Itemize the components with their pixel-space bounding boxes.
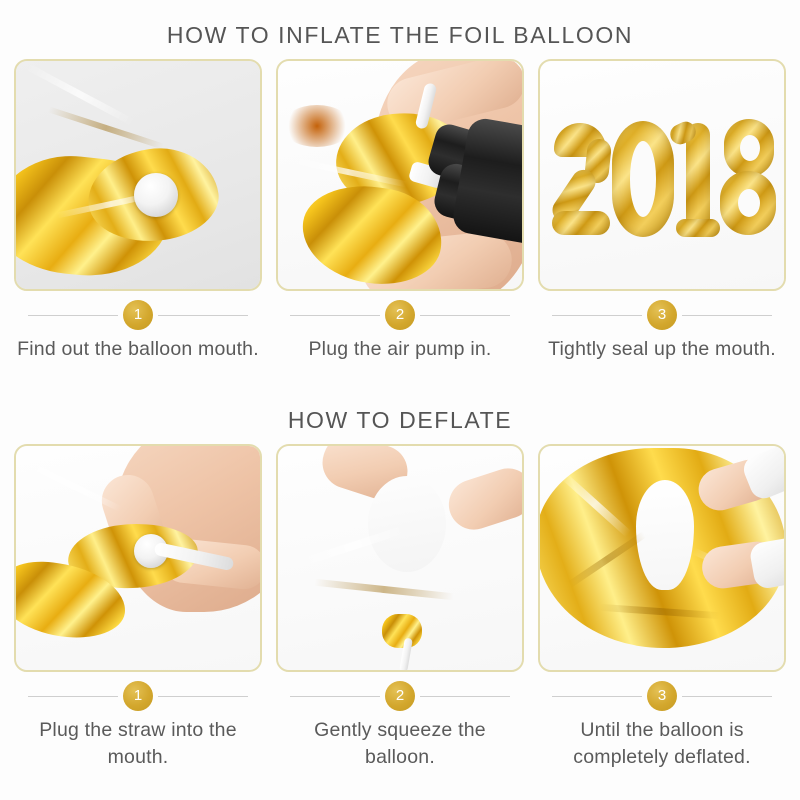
step-card-deflate-1: 1 Plug the straw into the mouth.: [14, 444, 262, 771]
section-inflate: HOW TO INFLATE THE FOIL BALLOON: [0, 0, 800, 363]
step-card-inflate-1: 1 Find out the balloon mouth.: [14, 59, 262, 363]
step-card-deflate-3: 3 Until the balloon is completely deflat…: [538, 444, 786, 771]
balloon-digit-8-hole-bottom: [738, 189, 760, 217]
step-card-deflate-2: 2 Gently squeeze the balloon.: [276, 444, 524, 771]
step-caption-2: Gently squeeze the balloon.: [276, 711, 524, 771]
balloon-digit-8-hole-top: [740, 135, 760, 161]
step-badge-2: 2: [385, 681, 415, 711]
divider-line-left: [552, 696, 642, 697]
section-title-inflate: HOW TO INFLATE THE FOIL BALLOON: [0, 0, 800, 49]
infographic-page: HOW TO INFLATE THE FOIL BALLOON: [0, 0, 800, 800]
step-badge-1: 1: [123, 300, 153, 330]
step-divider: 1: [14, 300, 262, 330]
steps-row-deflate: 1 Plug the straw into the mouth.: [0, 444, 800, 771]
photo-squeeze-balloon: [276, 444, 524, 672]
balloon-valve-icon: [134, 173, 178, 217]
step-badge-2: 2: [385, 300, 415, 330]
step-caption-1: Find out the balloon mouth.: [14, 330, 262, 363]
step-divider: 3: [538, 681, 786, 711]
section-deflate: HOW TO DEFLATE: [0, 393, 800, 771]
step-divider: 2: [276, 300, 524, 330]
divider-line-right: [682, 696, 772, 697]
step-badge-3: 3: [647, 300, 677, 330]
divider-line-left: [28, 696, 118, 697]
step-divider: 2: [276, 681, 524, 711]
step-divider: 1: [14, 681, 262, 711]
divider-line-right: [158, 315, 248, 316]
step-card-inflate-2: 2 Plug the air pump in.: [276, 59, 524, 363]
divider-line-right: [158, 696, 248, 697]
step-caption-3: Until the balloon is completely deflated…: [538, 711, 786, 771]
steps-row-inflate: 1 Find out the balloon mouth.: [0, 59, 800, 363]
photo-inflated-2018-balloons: [538, 59, 786, 291]
balloon-digit-2-base: [552, 211, 610, 235]
divider-line-right: [682, 315, 772, 316]
balloon-digit-0-hole: [630, 141, 656, 217]
section-title-deflate: HOW TO DEFLATE: [0, 393, 800, 434]
step-divider: 3: [538, 300, 786, 330]
divider-line-left: [28, 315, 118, 316]
step-card-inflate-3: 3 Tightly seal up the mouth.: [538, 59, 786, 363]
step-badge-1: 1: [123, 681, 153, 711]
balloon-digit-1-base: [676, 219, 720, 237]
step-caption-2: Plug the air pump in.: [276, 330, 524, 363]
divider-line-right: [420, 315, 510, 316]
step-caption-1: Plug the straw into the mouth.: [14, 711, 262, 771]
photo-balloon-mouth-valve: [14, 59, 262, 291]
divider-line-left: [552, 315, 642, 316]
divider-line-right: [420, 696, 510, 697]
photo-straw-into-mouth: [14, 444, 262, 672]
step-badge-3: 3: [647, 681, 677, 711]
balloon-zero-hole: [368, 476, 446, 572]
photo-deflated-balloon: [538, 444, 786, 672]
foil-dark-patch: [282, 105, 352, 147]
divider-line-left: [290, 696, 380, 697]
divider-line-left: [290, 315, 380, 316]
balloon-bottom-nub: [382, 614, 422, 648]
photo-air-pump-insert: [276, 59, 524, 291]
step-caption-3: Tightly seal up the mouth.: [538, 330, 786, 363]
